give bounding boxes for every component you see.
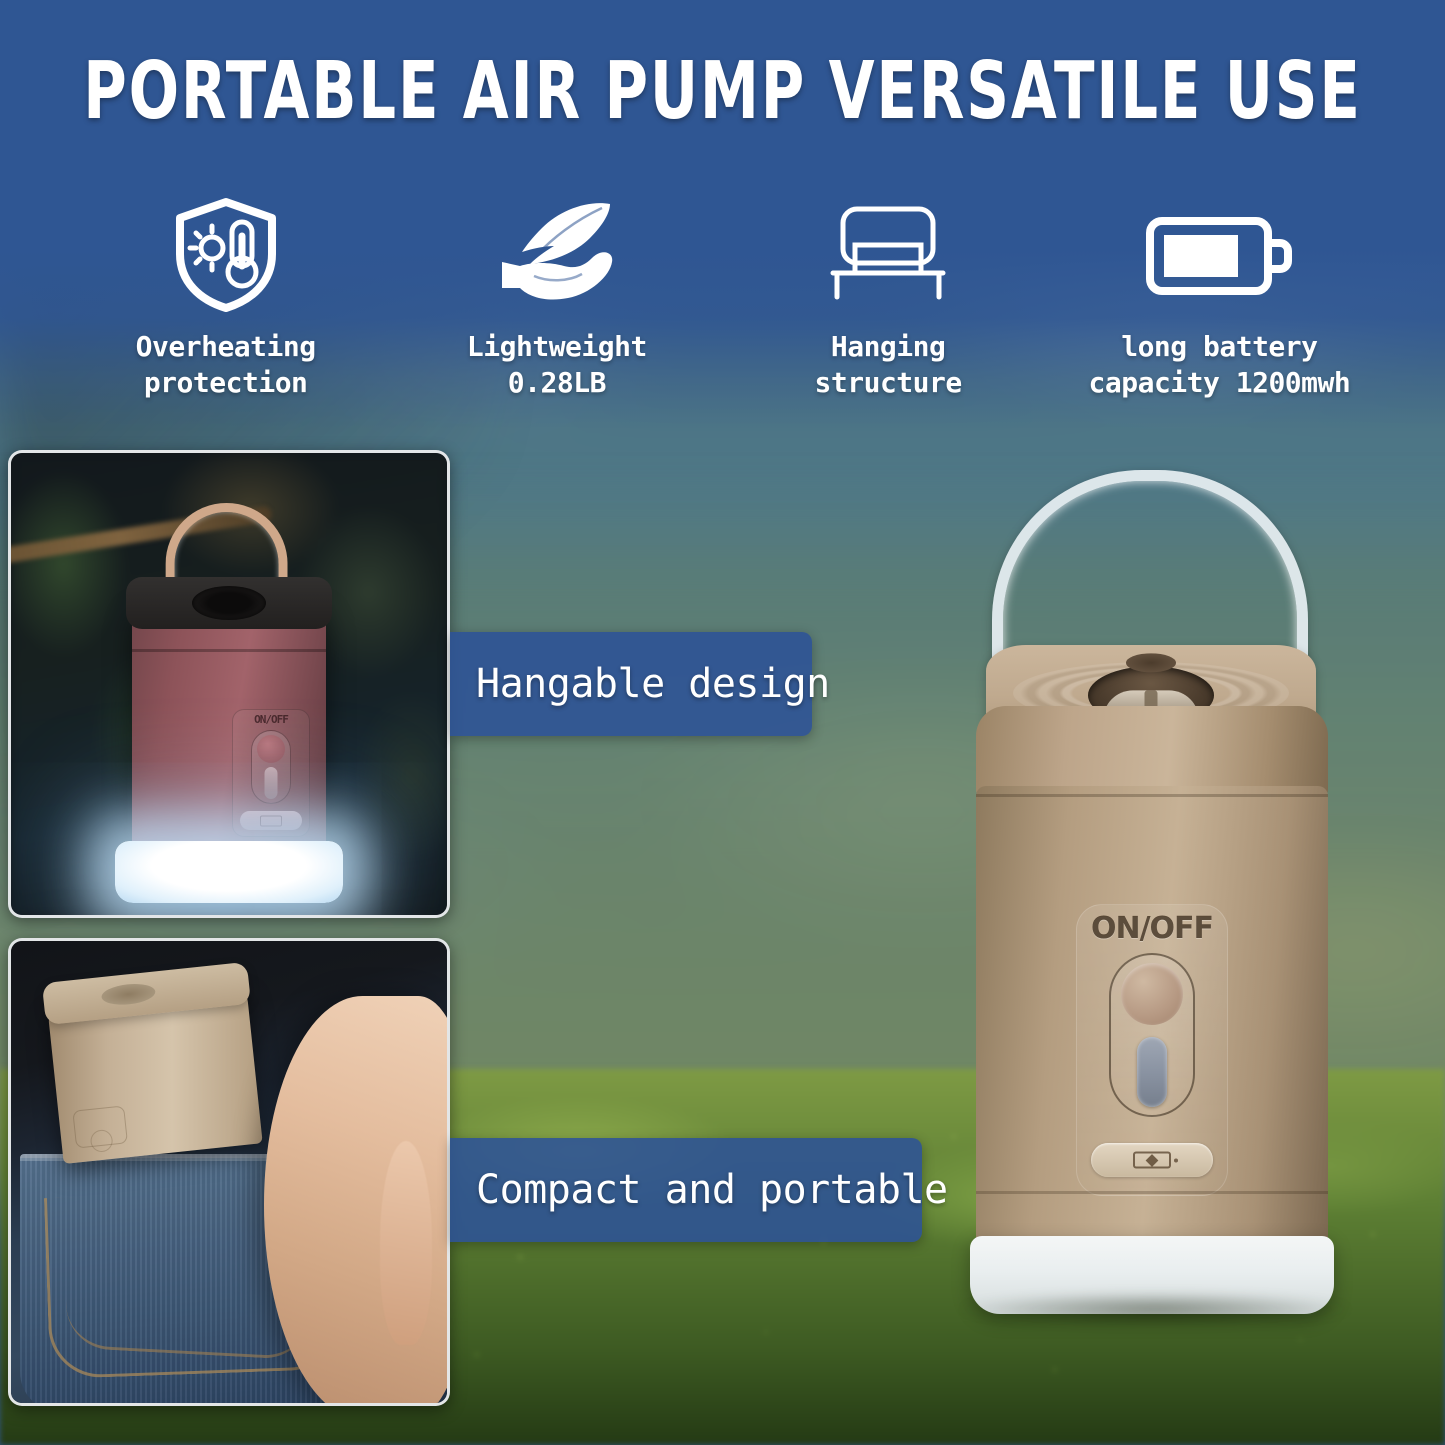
feature-item-lightweight: Lightweight 0.28LB xyxy=(407,195,707,401)
page-title: PORTABLE AIR PUMP VERSATILE USE xyxy=(72,45,1373,137)
power-switch xyxy=(251,730,291,804)
callout-compact-portable: Compact and portable xyxy=(450,1138,922,1242)
feature-label: long battery capacity 1200mwh xyxy=(1089,329,1351,401)
onoff-label-small xyxy=(72,1106,128,1149)
charge-indicator xyxy=(240,811,302,830)
onoff-label: ON/OFF xyxy=(1091,911,1213,946)
pump-control-panel: ON/OFF xyxy=(232,709,310,837)
air-pump-device-tan xyxy=(47,986,262,1164)
hand-feather-icon xyxy=(492,195,622,315)
product-body: ON/OFF xyxy=(976,786,1328,1272)
thumb xyxy=(380,1141,432,1345)
product-ground-shadow xyxy=(960,1292,1350,1326)
main-product-air-pump: ON/OFF xyxy=(940,470,1370,1330)
feature-item-battery: long battery capacity 1200mwh xyxy=(1069,195,1369,401)
pump-top-cap xyxy=(126,577,332,629)
battery-icon xyxy=(1144,195,1294,315)
feature-item-hanging: Hanging structure xyxy=(738,195,1038,401)
feature-label: Lightweight 0.28LB xyxy=(467,329,647,401)
shield-thermometer-icon xyxy=(166,195,286,315)
feature-label: Hanging structure xyxy=(815,329,962,401)
hanging-bed-structure-icon xyxy=(825,195,951,315)
product-collar xyxy=(976,706,1328,798)
body-seam-top xyxy=(976,794,1328,797)
carry-handle xyxy=(992,470,1308,670)
onoff-label: ON/OFF xyxy=(254,713,288,726)
callout-hangable-design: Hangable design xyxy=(450,632,812,736)
control-panel: ON/OFF xyxy=(1076,904,1228,1196)
inset-photo-pocket-portability[interactable] xyxy=(8,938,450,1406)
lid-notch xyxy=(1126,653,1176,672)
product-marketing-image: PORTABLE AIR PUMP VERSATILE USE xyxy=(0,0,1445,1445)
pump-seam xyxy=(132,649,326,652)
feature-label: Overheating protection xyxy=(136,329,316,401)
air-pump-device-red: ON/OFF xyxy=(132,603,326,865)
feature-item-overheating: Overheating protection xyxy=(76,195,376,401)
hand xyxy=(264,996,450,1406)
inset-photo-hanging-design[interactable]: ON/OFF xyxy=(8,450,450,918)
charging-port-icon xyxy=(1133,1152,1171,1169)
charge-indicator-button[interactable] xyxy=(1091,1143,1213,1177)
power-slider[interactable] xyxy=(1137,1037,1167,1107)
feature-list: Overheating protection Lightweight 0.28L… xyxy=(0,195,1445,401)
power-switch-keyhole[interactable] xyxy=(1109,953,1195,1117)
led-light-ring xyxy=(115,841,343,903)
body-seam-bottom xyxy=(976,1191,1328,1194)
power-button[interactable] xyxy=(1121,963,1183,1025)
